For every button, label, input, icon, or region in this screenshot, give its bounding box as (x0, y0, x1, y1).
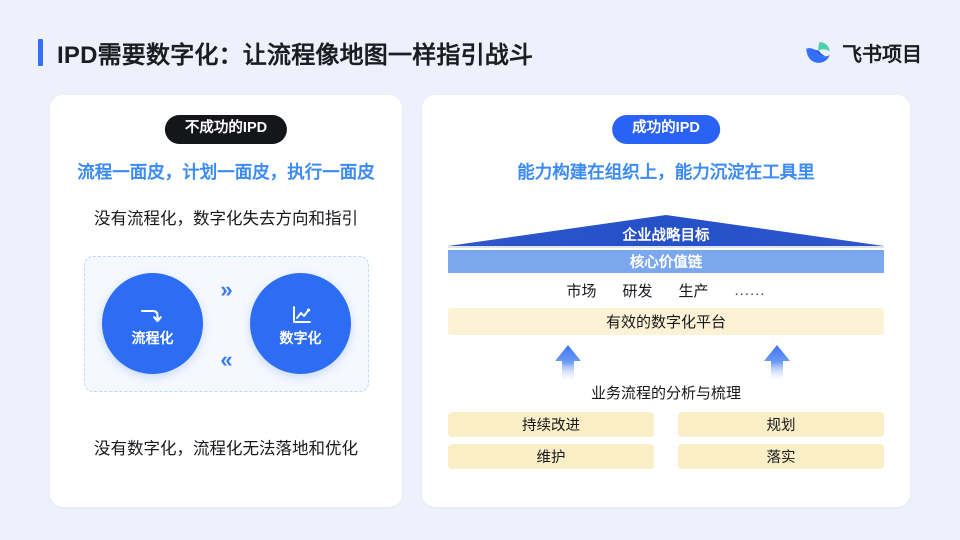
capability-pyramid-diagram: 企业战略目标 核心价值链 市场 研发 生产 ...... 有效的数字化平台 (448, 215, 884, 469)
pyramid-top-label: 企业战略目标 (448, 224, 884, 245)
arrow-row (448, 339, 884, 386)
circle-digital: 数字化 (250, 273, 351, 374)
function-production: 生产 (679, 280, 709, 301)
brand-name: 飞书项目 (842, 38, 922, 67)
badge-successful-ipd: 成功的IPD (612, 115, 720, 144)
chip-continuous-improvement: 持续改进 (448, 412, 654, 437)
process-digital-panel: 流程化 » « 数字化 (84, 256, 369, 392)
chip-planning: 规划 (678, 412, 884, 437)
slide-header: IPD需要数字化：让流程像地图一样指引战斗 飞书项目 (38, 30, 922, 74)
chip-maintenance: 维护 (448, 444, 654, 469)
circle-digital-label: 数字化 (280, 331, 322, 345)
card-successful-ipd: 成功的IPD 能力构建在组织上，能力沉淀在工具里 企业战略目标 (422, 95, 910, 507)
brand-lockup: 飞书项目 (803, 37, 922, 67)
line-chart-icon (287, 303, 315, 327)
activity-chip-grid: 持续改进 规划 维护 落实 (448, 412, 884, 469)
function-more: ...... (735, 282, 766, 299)
headline-successful: 能力构建在组织上，能力沉淀在工具里 (422, 159, 910, 184)
bidirectional-chevrons: » « (207, 279, 247, 371)
chevron-forward-icon: » (220, 279, 232, 301)
circle-process-label: 流程化 (132, 331, 174, 345)
function-market: 市场 (566, 280, 596, 301)
pyramid-top-tier: 企业战略目标 (448, 215, 884, 248)
page-title: IPD需要数字化：让流程像地图一样指引战斗 (57, 35, 533, 70)
digital-platform-bar: 有效的数字化平台 (448, 308, 884, 335)
title-accent-bar (38, 39, 43, 66)
card-unsuccessful-ipd: 不成功的IPD 流程一面皮，计划一面皮，执行一面皮 没有流程化，数字化失去方向和… (50, 95, 402, 507)
feishu-project-logo-icon (803, 37, 833, 67)
value-chain-band: 核心价值链 (448, 250, 884, 273)
flow-arrow-icon (139, 303, 167, 327)
subline-no-digital: 没有数字化，流程化无法落地和优化 (50, 435, 402, 459)
slide-root: IPD需要数字化：让流程像地图一样指引战斗 飞书项目 不成功的IPD 流程一面皮… (0, 0, 960, 540)
up-arrow-icon (553, 343, 583, 383)
page-title-group: IPD需要数字化：让流程像地图一样指引战斗 (38, 35, 533, 70)
function-rd: 研发 (622, 280, 652, 301)
chip-implementation: 落实 (678, 444, 884, 469)
function-row: 市场 研发 生产 ...... (448, 280, 884, 301)
headline-unsuccessful: 流程一面皮，计划一面皮，执行一面皮 (50, 159, 402, 184)
up-arrow-icon (762, 343, 792, 383)
badge-unsuccessful-ipd: 不成功的IPD (165, 115, 287, 144)
chevron-backward-icon: « (220, 349, 232, 371)
subline-no-process: 没有流程化，数字化失去方向和指引 (50, 205, 402, 229)
circle-process: 流程化 (102, 273, 203, 374)
